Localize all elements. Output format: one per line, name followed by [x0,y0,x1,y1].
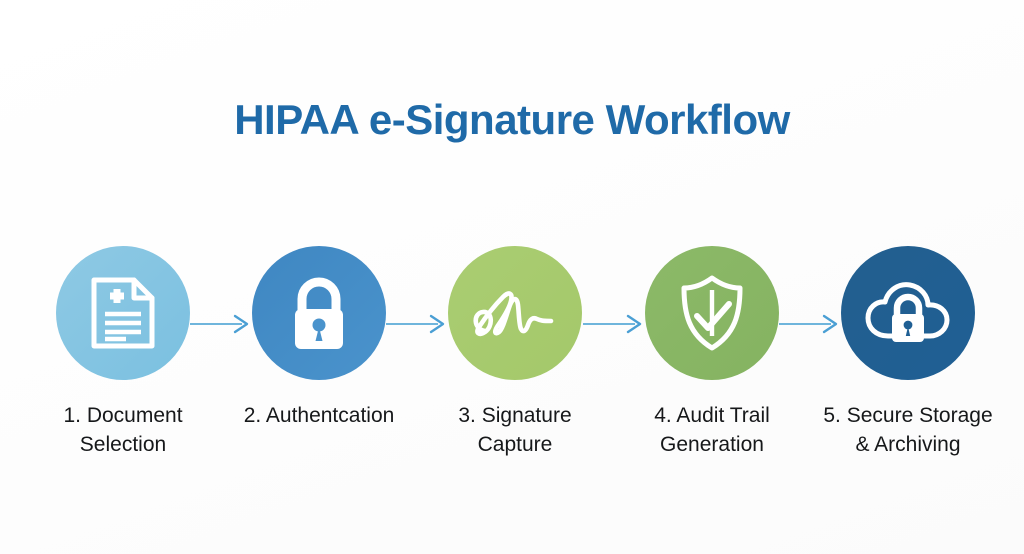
step-icon-circle-5[interactable] [841,246,975,380]
step-label-1: 1. Document Selection [25,401,221,459]
page-title: HIPAA e-Signature Workflow [0,96,1024,144]
step-icon-circle-3[interactable] [448,246,582,380]
workflow-step-authentication[interactable]: 2. Authentcation [221,246,417,430]
workflow-step-secure-storage[interactable]: 5. Secure Storage & Archiving [810,246,1006,459]
workflow-step-document-selection[interactable]: 1. Document Selection [25,246,221,459]
medical-document-icon [88,276,158,350]
workflow-step-signature-capture[interactable]: 3. Signature Capture [417,246,613,459]
step-label-3: 3. Signature Capture [417,401,613,459]
workflow-step-audit-trail[interactable]: 4. Audit Trail Generation [614,246,810,459]
padlock-icon [284,275,354,351]
shield-check-icon [677,274,747,352]
diagram-canvas: HIPAA e-Signature Workflow [0,0,1024,554]
step-label-2: 2. Authentcation [221,401,417,430]
workflow-row: 1. Document Selection 2. Authentcation [0,246,1024,486]
step-label-4: 4. Audit Trail Generation [614,401,810,459]
step-icon-circle-2[interactable] [252,246,386,380]
cloud-lock-icon [864,280,952,346]
signature-scribble-icon [469,283,561,343]
step-label-5: 5. Secure Storage & Archiving [810,401,1006,459]
step-icon-circle-4[interactable] [645,246,779,380]
step-icon-circle-1[interactable] [56,246,190,380]
